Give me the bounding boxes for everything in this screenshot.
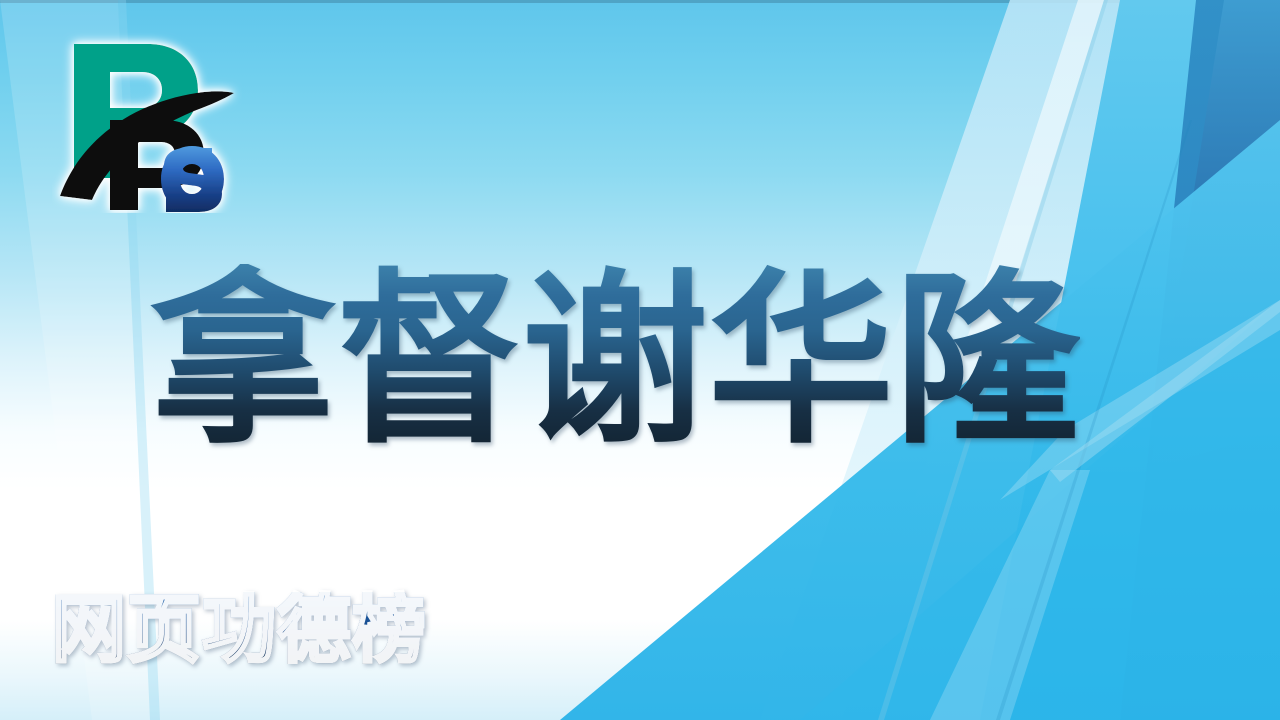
logo-mark-group [60,44,234,212]
presentation-slide: 拿督谢华隆 网页功德榜 [0,0,1280,720]
slide-footer: 网页功德榜 [52,583,492,679]
logo-so-text-icon [161,146,224,212]
pso-logo [52,28,242,213]
slide-footer-text: 网页功德榜 [52,592,427,670]
slide-title: 拿督谢华隆 [150,243,1140,478]
slide-title-text: 拿督谢华隆 [150,264,1080,457]
